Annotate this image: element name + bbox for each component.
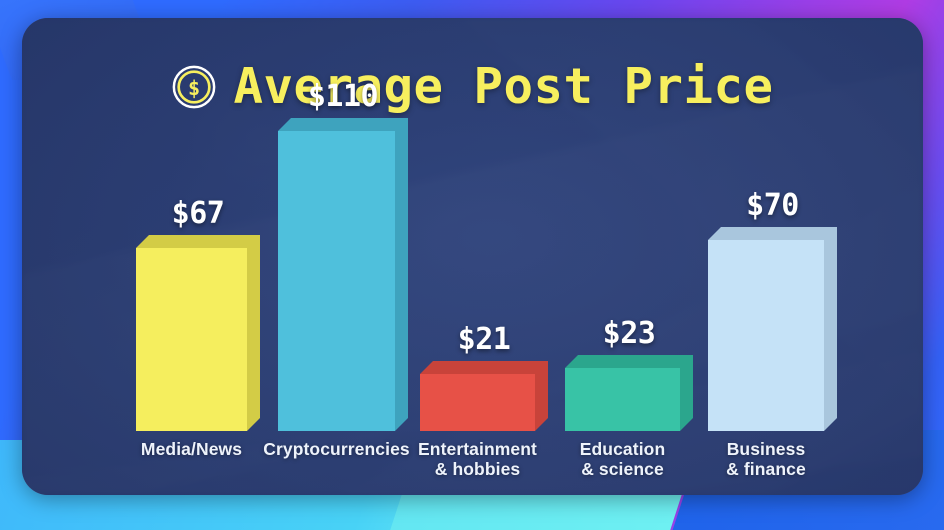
bar-side-face	[395, 118, 408, 431]
bar-side-face	[535, 361, 548, 431]
bar-top-face	[708, 227, 824, 240]
bar-front-face	[278, 131, 395, 431]
bar-category-label: Cryptocurrencies	[256, 440, 417, 460]
bar-group[interactable]	[136, 248, 247, 431]
bar-value-label: $67	[143, 199, 254, 229]
bar-group[interactable]	[565, 368, 680, 431]
bar-side-face	[680, 355, 693, 431]
bar-top-face	[278, 118, 395, 131]
bar-chart: $67Media/News$110Cryptocurrencies$21Ente…	[22, 18, 923, 495]
bar-value-label: $23	[572, 319, 687, 349]
bar-top-face	[136, 235, 247, 248]
bar-front-face	[565, 368, 680, 431]
bar-category-label: Media/News	[114, 440, 269, 460]
poster-frame: $ Average Post Price $67Media/News$110Cr…	[0, 0, 944, 530]
bar-value-label: $110	[285, 82, 402, 112]
bar-front-face	[420, 374, 535, 431]
bar-side-face	[824, 227, 837, 431]
bar-group[interactable]	[708, 240, 824, 431]
bar-value-label: $70	[715, 191, 831, 221]
chart-card: $ Average Post Price $67Media/News$110Cr…	[22, 18, 923, 495]
bar-group[interactable]	[278, 131, 395, 431]
bar-category-label: Education & science	[543, 440, 702, 479]
bar-category-label: Entertainment & hobbies	[398, 440, 557, 479]
bar-front-face	[708, 240, 824, 431]
bar-value-label: $21	[427, 325, 542, 355]
bar-top-face	[565, 355, 680, 368]
bar-category-label: Business & finance	[686, 440, 846, 479]
bar-side-face	[247, 235, 260, 431]
bar-group[interactable]	[420, 374, 535, 431]
bar-top-face	[420, 361, 535, 374]
bar-front-face	[136, 248, 247, 431]
